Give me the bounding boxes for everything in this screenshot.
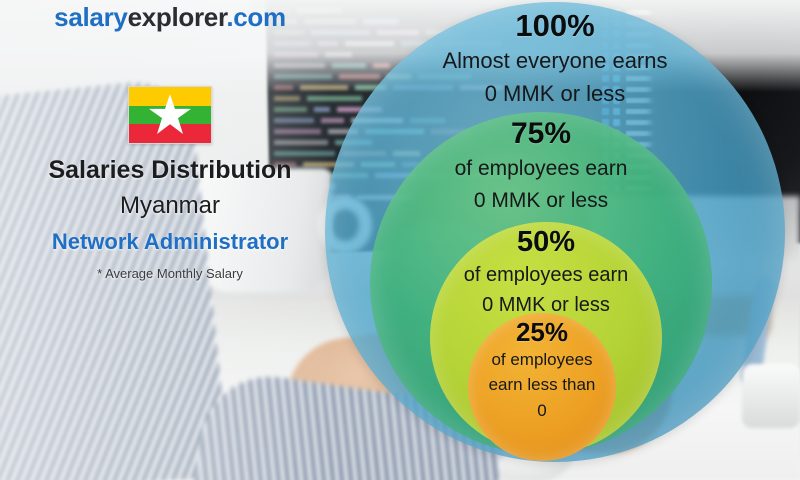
percentile-value-100: 100% [515, 10, 594, 41]
percentile-desc-100-line1: Almost everyone earns [443, 48, 668, 74]
percentile-desc-50-line1: of employees earn [464, 263, 629, 287]
page-title: Salaries Distribution [0, 156, 340, 185]
percentile-value-75: 75% [511, 119, 571, 149]
salary-note: * Average Monthly Salary [0, 266, 340, 281]
percentile-value-50: 50% [517, 228, 575, 257]
logo-part-explorer: explorer [128, 2, 227, 32]
myanmar-flag-icon [128, 86, 212, 144]
logo-part-salary: salary [54, 2, 127, 32]
percentile-desc-25-line3: 0 [537, 401, 546, 421]
percentile-desc-25-line1: of employees [491, 350, 592, 370]
percentile-desc-75-line1: of employees earn [455, 156, 628, 181]
logo-part-com: .com [226, 2, 285, 32]
percentile-bubble-25[interactable]: 25% of employees earn less than 0 [468, 313, 616, 461]
percentile-desc-25-line2: earn less than [489, 375, 596, 395]
site-logo[interactable]: salaryexplorer.com [0, 2, 340, 36]
percentile-value-25: 25% [516, 319, 568, 345]
job-title-label: Network Administrator [0, 229, 340, 255]
percentile-desc-100-line2: 0 MMK or less [485, 81, 626, 107]
flag-stripe-red [129, 124, 211, 143]
percentile-desc-75-line2: 0 MMK or less [474, 188, 608, 213]
info-panel: Salaries Distribution Myanmar Network Ad… [0, 86, 340, 326]
country-label: Myanmar [0, 192, 340, 220]
